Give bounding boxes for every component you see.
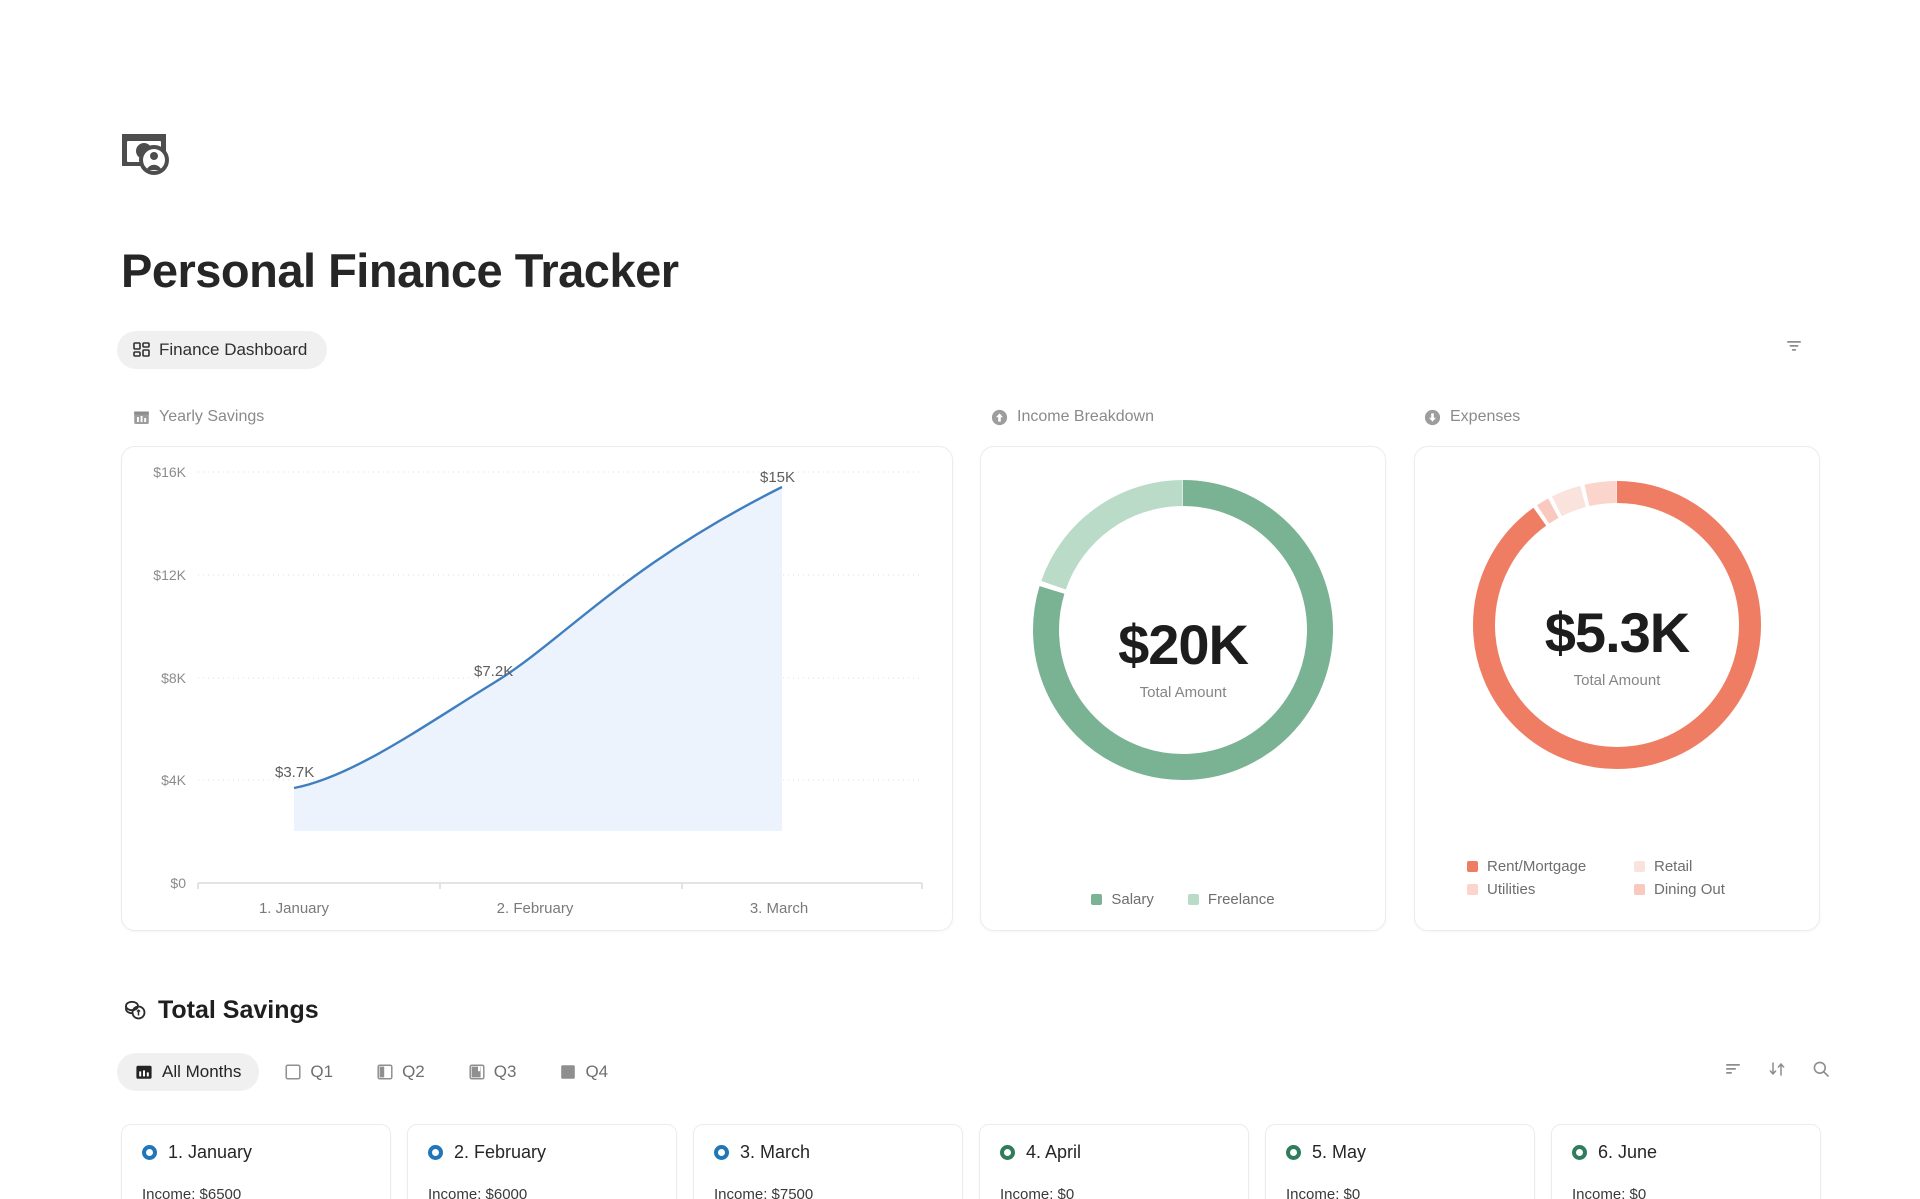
income-breakdown-panel: $20K Total Amount Salary Freelance	[980, 446, 1386, 931]
tab-label: Q1	[310, 1062, 333, 1082]
calendar-bar-icon	[133, 409, 150, 426]
months-filter-tabs: All Months Q1 Q2 Q3	[117, 1053, 626, 1091]
legend-item-freelance[interactable]: Freelance	[1188, 891, 1275, 908]
tab-finance-dashboard[interactable]: Finance Dashboard	[117, 331, 327, 369]
tab-label: Q3	[494, 1062, 517, 1082]
legend-item-salary[interactable]: Salary	[1091, 891, 1154, 908]
legend-item-dining-out[interactable]: Dining Out	[1634, 881, 1767, 898]
total-savings-heading: Total Savings	[124, 996, 319, 1025]
money-person-icon	[121, 130, 175, 184]
month-cards-grid: 1. January Income: $6500 2. February Inc…	[121, 1124, 1821, 1199]
legend-label: Freelance	[1208, 891, 1275, 908]
legend-item-utilities[interactable]: Utilities	[1467, 881, 1600, 898]
y-tick-label: $16K	[153, 464, 186, 480]
x-tick-label: 2. February	[497, 900, 574, 917]
income-total-label: Total Amount	[981, 684, 1385, 701]
tab-q4[interactable]: Q4	[542, 1053, 626, 1091]
card-label-text: Income Breakdown	[1017, 408, 1154, 426]
month-card[interactable]: 1. January Income: $6500	[121, 1124, 391, 1199]
calendar-icon	[135, 1063, 153, 1081]
income-donut-center: $20K Total Amount	[981, 617, 1385, 701]
month-card-header: 6. June	[1572, 1142, 1800, 1163]
app-root: Personal Finance Tracker Finance Dashboa…	[0, 0, 1920, 1199]
legend-swatch	[1091, 894, 1102, 905]
page-title: Personal Finance Tracker	[121, 243, 679, 298]
card-label-income-breakdown: Income Breakdown	[991, 408, 1154, 426]
month-card[interactable]: 2. February Income: $6000	[407, 1124, 677, 1199]
status-ring-icon	[714, 1145, 729, 1160]
month-card-income: Income: $6000	[428, 1186, 656, 1199]
month-card-income: Income: $0	[1000, 1186, 1228, 1199]
legend-label: Rent/Mortgage	[1487, 858, 1586, 875]
circle-arrow-up-icon	[991, 409, 1008, 426]
dashboard-tabs: Finance Dashboard	[117, 331, 1803, 369]
point-label: $3.7K	[275, 764, 314, 781]
month-card-title: 3. March	[740, 1142, 810, 1163]
tab-q1[interactable]: Q1	[267, 1053, 351, 1091]
app-logo	[121, 130, 175, 184]
card-label-expenses: Expenses	[1424, 408, 1520, 426]
tab-label: Finance Dashboard	[159, 340, 307, 360]
month-card[interactable]: 5. May Income: $0	[1265, 1124, 1535, 1199]
filter-icon[interactable]	[1785, 337, 1803, 360]
point-label: $7.2K	[474, 663, 513, 680]
coins-icon	[124, 999, 147, 1022]
card-label-yearly-savings: Yearly Savings	[133, 408, 264, 426]
filter-icon[interactable]	[1724, 1060, 1742, 1083]
legend-swatch	[1188, 894, 1199, 905]
sort-icon[interactable]	[1768, 1060, 1786, 1083]
expenses-legend: Rent/Mortgage Retail Utilities Dining Ou…	[1415, 858, 1819, 898]
month-card-title: 2. February	[454, 1142, 546, 1163]
month-card-income: Income: $0	[1286, 1186, 1514, 1199]
battery-full-icon	[560, 1064, 576, 1080]
income-total-value: $20K	[981, 617, 1385, 673]
tab-q3[interactable]: Q3	[451, 1053, 535, 1091]
month-card-header: 1. January	[142, 1142, 370, 1163]
battery-half-icon	[377, 1064, 393, 1080]
line-chart: $16K $12K $8K $4K $0 $3.7K $7.2K $15K 1.…	[122, 447, 952, 930]
status-ring-icon	[1572, 1145, 1587, 1160]
month-card-header: 4. April	[1000, 1142, 1228, 1163]
x-tick-label: 3. March	[750, 900, 808, 917]
layout-dashboard-icon	[133, 342, 150, 359]
y-tick-label: $4K	[161, 772, 187, 788]
status-ring-icon	[1000, 1145, 1015, 1160]
expenses-total-value: $5.3K	[1415, 605, 1819, 661]
card-label-text: Expenses	[1450, 408, 1520, 426]
legend-swatch	[1634, 861, 1645, 872]
legend-label: Utilities	[1487, 881, 1535, 898]
month-card-title: 6. June	[1598, 1142, 1657, 1163]
month-card-income: Income: $7500	[714, 1186, 942, 1199]
tab-label: All Months	[162, 1062, 241, 1082]
search-icon[interactable]	[1812, 1060, 1830, 1083]
month-card-title: 5. May	[1312, 1142, 1366, 1163]
month-card[interactable]: 4. April Income: $0	[979, 1124, 1249, 1199]
legend-swatch	[1634, 884, 1645, 895]
month-card-title: 4. April	[1026, 1142, 1081, 1163]
y-tick-label: $0	[170, 875, 186, 891]
x-tick-label: 1. January	[259, 900, 330, 917]
tab-q2[interactable]: Q2	[359, 1053, 443, 1091]
tab-label: Q2	[402, 1062, 425, 1082]
battery-quarter-icon	[285, 1064, 301, 1080]
circle-arrow-down-icon	[1424, 409, 1441, 426]
month-card[interactable]: 3. March Income: $7500	[693, 1124, 963, 1199]
legend-label: Dining Out	[1654, 881, 1725, 898]
section-title-text: Total Savings	[158, 996, 319, 1025]
expenses-total-label: Total Amount	[1415, 672, 1819, 689]
legend-label: Retail	[1654, 858, 1692, 875]
table-toolbar	[1724, 1060, 1830, 1083]
month-card[interactable]: 6. June Income: $0	[1551, 1124, 1821, 1199]
legend-swatch	[1467, 884, 1478, 895]
legend-item-retail[interactable]: Retail	[1634, 858, 1767, 875]
month-card-title: 1. January	[168, 1142, 252, 1163]
legend-swatch	[1467, 861, 1478, 872]
month-card-income: Income: $6500	[142, 1186, 370, 1199]
tab-all-months[interactable]: All Months	[117, 1053, 259, 1091]
month-card-header: 5. May	[1286, 1142, 1514, 1163]
y-tick-label: $12K	[153, 567, 186, 583]
tab-label: Q4	[585, 1062, 608, 1082]
month-card-header: 2. February	[428, 1142, 656, 1163]
card-label-text: Yearly Savings	[159, 408, 264, 426]
battery-three-quarter-icon	[469, 1064, 485, 1080]
status-ring-icon	[428, 1145, 443, 1160]
legend-item-rent-mortgage[interactable]: Rent/Mortgage	[1467, 858, 1600, 875]
chart-area-fill	[294, 487, 782, 831]
month-card-income: Income: $0	[1572, 1186, 1800, 1199]
y-tick-label: $8K	[161, 670, 187, 686]
yearly-savings-chart-panel: $16K $12K $8K $4K $0 $3.7K $7.2K $15K 1.…	[121, 446, 953, 931]
expenses-panel: $5.3K Total Amount Rent/Mortgage Retail …	[1414, 446, 1820, 931]
status-ring-icon	[142, 1145, 157, 1160]
income-legend: Salary Freelance	[981, 891, 1385, 908]
legend-label: Salary	[1111, 891, 1154, 908]
expenses-donut-center: $5.3K Total Amount	[1415, 605, 1819, 689]
month-card-header: 3. March	[714, 1142, 942, 1163]
point-label: $15K	[760, 469, 795, 486]
status-ring-icon	[1286, 1145, 1301, 1160]
